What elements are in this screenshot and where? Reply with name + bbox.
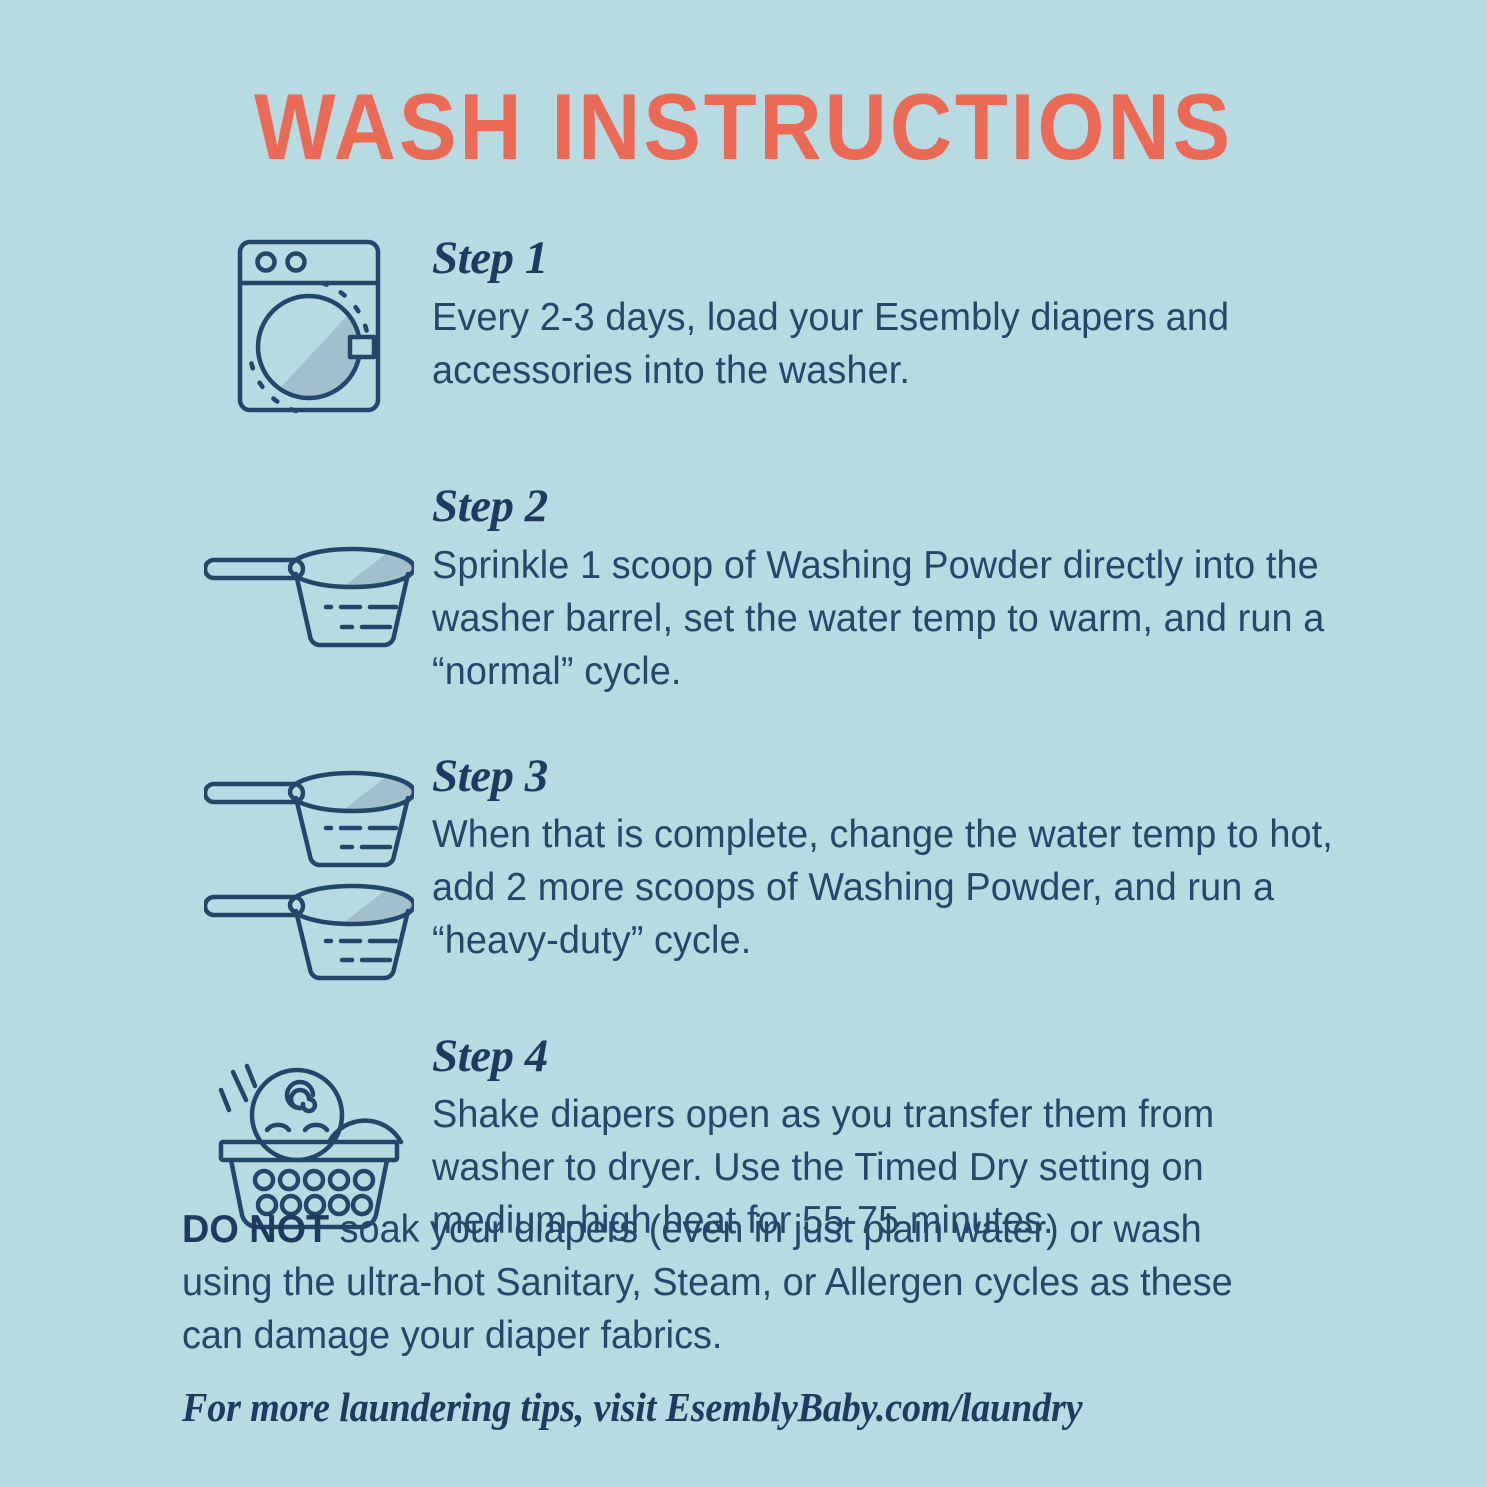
- step-1-icon-wrap: [186, 232, 432, 416]
- step-heading: Step 1: [432, 232, 1367, 285]
- washing-machine-icon: [234, 236, 384, 416]
- step-item: Step 3 When that is complete, change the…: [0, 750, 1487, 982]
- step-4-icon-wrap: [186, 1030, 432, 1230]
- step-item: Step 2 Sprinkle 1 scoop of Washing Powde…: [0, 480, 1487, 698]
- do-not-warning: DO NOT soak your diapers (even in just p…: [182, 1203, 1278, 1362]
- more-tips-line: For more laundering tips, visit EsemblyB…: [182, 1383, 1298, 1431]
- step-2-icon-wrap: [186, 480, 432, 657]
- step-heading: Step 2: [432, 480, 1367, 533]
- step-3-icon-wrap: [186, 750, 432, 982]
- step-description: Every 2-3 days, load your Esembly diaper…: [432, 291, 1339, 397]
- step-description: Sprinkle 1 scoop of Washing Powder direc…: [432, 539, 1339, 698]
- step-1-body: Step 1 Every 2-3 days, load your Esembly…: [432, 232, 1487, 397]
- page-title: WASH INSTRUCTIONS: [59, 78, 1427, 177]
- steps-list: Step 1 Every 2-3 days, load your Esembly…: [0, 232, 1487, 1247]
- do-not-emphasis: DO NOT: [182, 1208, 329, 1251]
- step-description: When that is complete, change the water …: [432, 808, 1339, 967]
- step-3-body: Step 3 When that is complete, change the…: [432, 750, 1487, 968]
- step-heading: Step 4: [432, 1030, 1367, 1083]
- step-item: Step 1 Every 2-3 days, load your Esembly…: [0, 232, 1487, 416]
- step-2-body: Step 2 Sprinkle 1 scoop of Washing Powde…: [432, 480, 1487, 698]
- measuring-scoop-icon: [204, 532, 414, 657]
- two-measuring-scoops-icon: [204, 760, 414, 982]
- step-heading: Step 3: [432, 750, 1367, 803]
- do-not-rest: soak your diapers (even in just plain wa…: [182, 1208, 1233, 1357]
- wash-instructions-poster: WASH INSTRUCTIONS: [0, 0, 1487, 1487]
